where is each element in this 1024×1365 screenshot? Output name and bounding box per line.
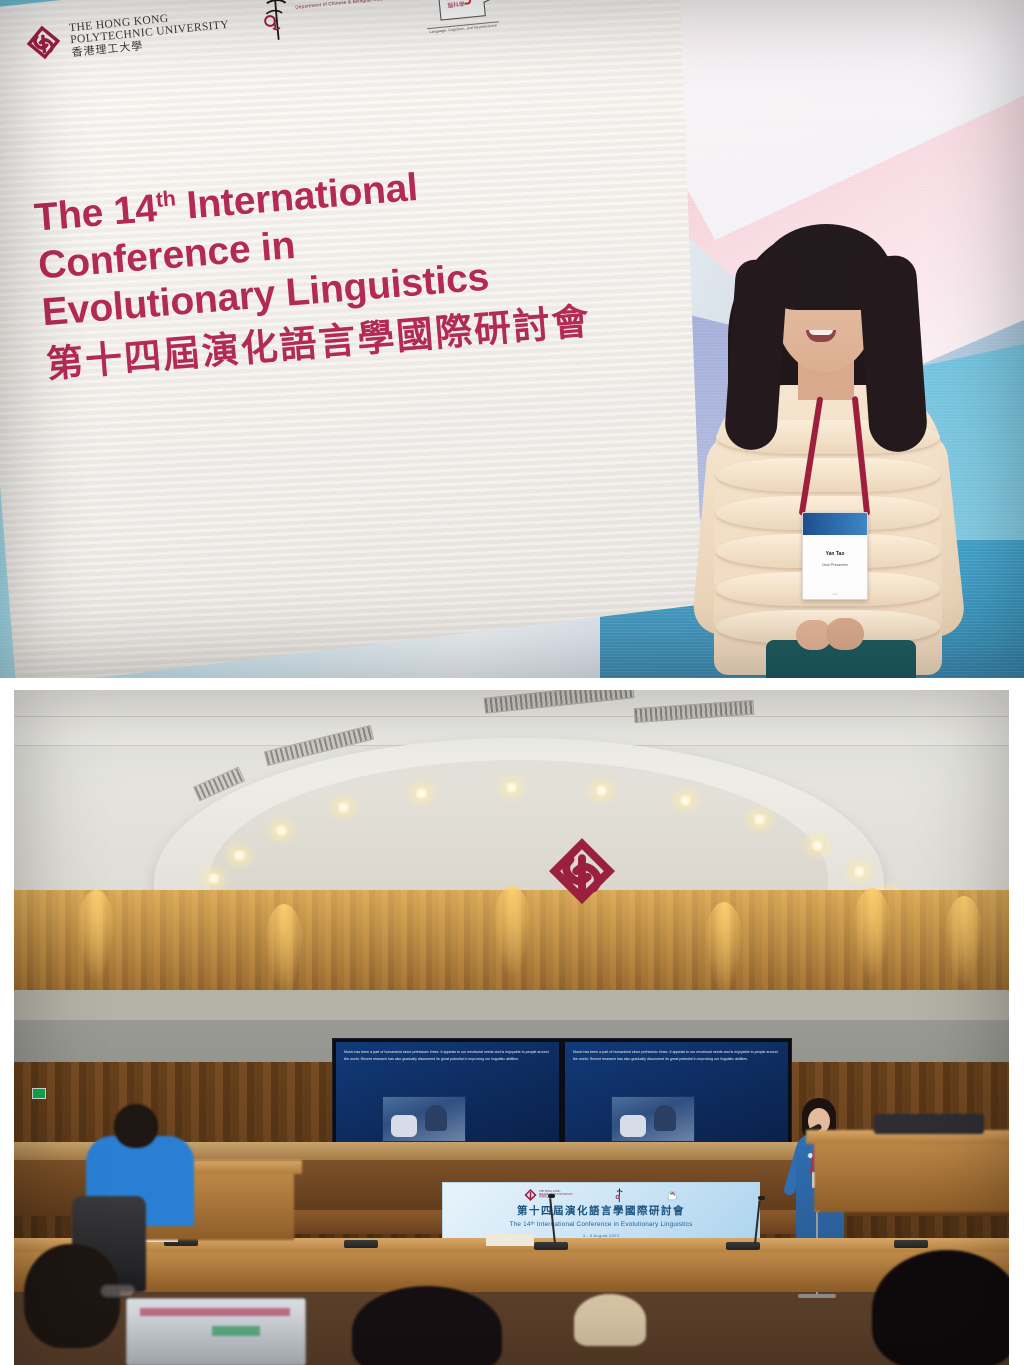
eyeglasses-icon xyxy=(100,1284,136,1298)
conference-banner-board: THE HONG KONG POLYTECHNIC UNIVERSITY 香港理… xyxy=(0,0,734,678)
slide-text: Music has been a part of humankind since… xyxy=(573,1049,782,1063)
ceiling-downlight xyxy=(232,850,247,861)
cbs-brush-icon xyxy=(260,0,295,45)
ceiling-downlight xyxy=(274,825,289,836)
person-head xyxy=(352,1286,502,1365)
polyu-knot-icon xyxy=(546,838,618,910)
wall-light-glow xyxy=(76,890,116,980)
projection-screen-left: Music has been a part of humankind since… xyxy=(336,1042,559,1146)
polyu-logo-text: THE HONG KONG POLYTECHNIC UNIVERSITY 香港理… xyxy=(539,1191,573,1200)
laptop-content-bar xyxy=(140,1308,290,1316)
desk-microphone-head xyxy=(758,1196,765,1200)
ceiling-downlight xyxy=(336,802,351,813)
speaker-name-badge: Yan Tao Oral Presenter ▪ ▪ ▪ xyxy=(802,512,868,600)
bottom-photo-lecture-theatre: Music has been a part of humankind since… xyxy=(14,690,1009,1365)
ceiling-downlight xyxy=(852,866,867,877)
ceiling-downlight xyxy=(678,795,693,806)
slide-photo xyxy=(611,1096,695,1142)
slide-photo xyxy=(382,1096,466,1142)
person-head xyxy=(114,1104,158,1148)
microphone-stand-base xyxy=(798,1294,836,1298)
cbs-logo-text: 中文及雙語學系 Department of Chinese & Bilingua… xyxy=(294,0,391,10)
slide-text: Music has been a part of humankind since… xyxy=(344,1049,553,1063)
desk-microphone-pad xyxy=(894,1240,928,1248)
badge-role-text: Oral Presenter xyxy=(803,562,867,567)
badge-header-band xyxy=(803,513,867,535)
wall-light-glow xyxy=(944,896,984,986)
projection-screen-pair: Music has been a part of humankind since… xyxy=(332,1038,792,1150)
wall-light-glow xyxy=(264,904,304,994)
podium-title-english: The 14ᵗʰ International Conference in Evo… xyxy=(443,1221,759,1228)
wall-light-glow xyxy=(492,886,532,976)
cbs-english-name: Department of Chinese & Bilingual Studie… xyxy=(295,0,390,10)
cbs-brush-icon xyxy=(615,1188,624,1203)
wall-light-glow xyxy=(704,902,744,992)
ceiling-downlight xyxy=(206,873,221,884)
badge-name-text: Yan Tao xyxy=(803,551,867,557)
projection-screen-right: Music has been a part of humankind since… xyxy=(565,1042,788,1146)
desk-microphone-pad xyxy=(534,1242,568,1250)
polyu-line-3: 香港理工大學 xyxy=(539,1196,573,1199)
top-photo-conference-banner: THE HONG KONG POLYTECHNIC UNIVERSITY 香港理… xyxy=(0,0,1024,678)
speaker-hair-right xyxy=(857,254,929,454)
desk-row xyxy=(14,1252,1009,1292)
speaker-hand-right xyxy=(826,618,864,650)
lcn-brain-head-icon xyxy=(666,1189,678,1202)
laptop-content-bar xyxy=(212,1326,260,1336)
wall-light-glow xyxy=(852,888,892,978)
badge-footer-logos: ▪ ▪ ▪ xyxy=(803,592,867,596)
speaker-ruffle xyxy=(716,458,940,492)
emergency-exit-icon xyxy=(32,1088,46,1099)
desk-microphone-head xyxy=(548,1194,555,1198)
polyu-knot-icon xyxy=(524,1189,537,1202)
ceiling-downlight xyxy=(504,782,519,793)
ceiling-downlight xyxy=(810,840,825,851)
ceiling-downlight xyxy=(414,788,429,799)
cbs-logo: 中文及雙語學系 Department of Chinese & Bilingua… xyxy=(260,0,394,45)
podium-logo-row: THE HONG KONG POLYTECHNIC UNIVERSITY 香港理… xyxy=(443,1187,759,1203)
polyu-knot-icon xyxy=(23,23,65,65)
photo-collage-page: THE HONG KONG POLYTECHNIC UNIVERSITY 香港理… xyxy=(0,0,1024,1365)
podium-title-chinese: 第十四屆演化語言學國際研討會 xyxy=(443,1203,759,1218)
ceiling-downlight xyxy=(752,814,767,825)
person-head xyxy=(872,1250,1009,1365)
lcn-logo: 語言認知 腦科學 Language, Cognition, and Neuros… xyxy=(422,0,500,33)
desk-paper xyxy=(486,1234,534,1246)
top-photo-speaker: Yan Tao Oral Presenter ▪ ▪ ▪ xyxy=(690,220,990,678)
ceiling-downlight xyxy=(594,785,609,796)
control-desk-equipment xyxy=(874,1114,984,1134)
person-hat xyxy=(574,1294,646,1346)
desk-microphone-pad xyxy=(344,1240,378,1248)
control-desk xyxy=(814,1138,1009,1212)
